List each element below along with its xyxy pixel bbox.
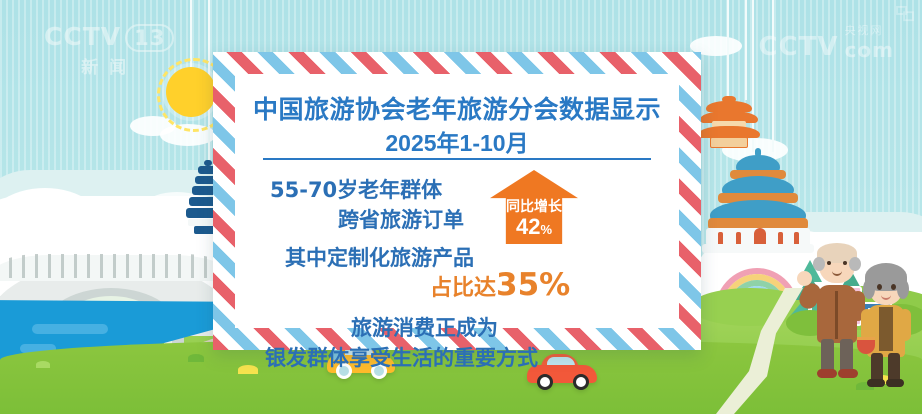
stat-line-5: 旅游消费正成为 [351,312,498,342]
site-watermark: CCTV 央视网 com [759,22,894,62]
card-inner: 中国旅游协会老年旅游分会数据显示 2025年1-10月 55-70岁老年群体 跨… [235,74,679,328]
page-subtitle: 2025年1-10月 [235,124,679,158]
plant-green-3 [188,354,204,362]
stat-line-6: 银发群体享受生活的重要方式 [265,342,538,372]
channel-name-cn: 新闻 [44,53,174,78]
watermark-domain: com [845,38,894,62]
elderly-couple-illustration [795,239,915,399]
stat-line-4-value: 35% [496,267,570,303]
stat-line-2: 跨省旅游订单 [338,204,464,234]
growth-badge-unit: % [540,222,552,237]
envelope-info-card: 中国旅游协会老年旅游分会数据显示 2025年1-10月 55-70岁老年群体 跨… [213,52,701,350]
channel-number: 13 [125,24,174,52]
stat-line-1: 55-70岁老年群体 [270,174,442,204]
cctv-wordmark: CCTV [44,22,121,51]
title-divider [263,158,651,160]
wheel [573,374,589,390]
plant-yellow [238,365,258,374]
tv-news-graphic: 中国旅游协会老年旅游分会数据显示 2025年1-10月 55-70岁老年群体 跨… [0,0,922,414]
growth-badge-label: 同比增长 [490,196,578,216]
channel-logo-text: CCTV13 [44,22,174,52]
watermark-cn: 央视网 [845,22,894,38]
hang-string-4 [745,0,747,100]
growth-badge: 同比增长 42% [490,170,578,244]
wheel [537,374,553,390]
channel-logo: CCTV13 新闻 [44,22,174,78]
stat-line-4: 占比达35% [430,267,570,303]
watermark-latin: CCTV [759,32,839,62]
stat-line-4-prefix: 占比达 [430,276,496,301]
screen-share-icon [896,6,914,22]
plant-green-1 [36,361,50,368]
growth-badge-value: 42% [490,214,578,240]
growth-badge-number: 42 [516,214,540,239]
page-title: 中国旅游协会老年旅游分会数据显示 [235,90,679,126]
orange-pagoda-ornament [698,96,760,148]
hang-string-3 [727,0,729,100]
